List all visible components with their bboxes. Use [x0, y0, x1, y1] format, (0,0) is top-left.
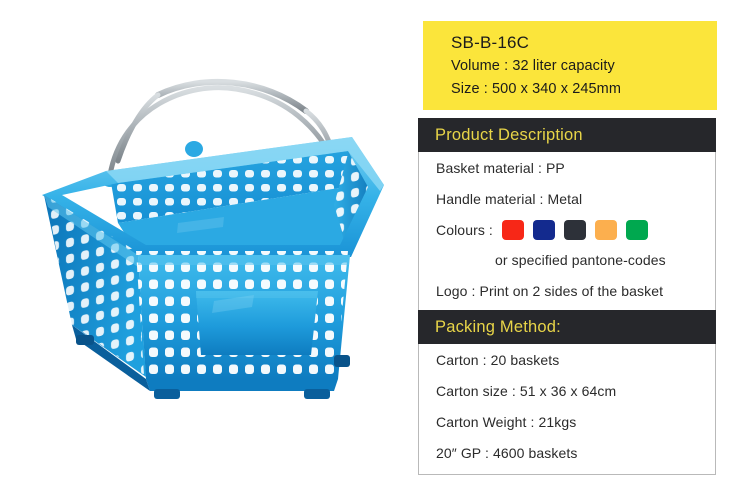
colour-swatch-navy	[533, 220, 555, 240]
packing-rows: Carton : 20 baskets Carton size : 51 x 3…	[419, 344, 715, 468]
product-description-rows: Basket material : PP Handle material : M…	[419, 152, 715, 306]
row-basket-material: Basket material : PP	[436, 152, 715, 183]
model-header-box: SB-B-16C Volume : 32 liter capacity Size…	[423, 21, 717, 110]
row-pantone-note: or specified pantone-codes	[436, 245, 715, 275]
spec-table-panel: Product Description Basket material : PP…	[418, 118, 716, 475]
row-carton-size: Carton size : 51 x 36 x 64cm	[436, 375, 715, 406]
colour-swatch-orange	[595, 220, 617, 240]
row-logo: Logo : Print on 2 sides of the basket	[436, 275, 715, 306]
colour-swatch-group	[502, 220, 648, 240]
row-carton-weight: Carton Weight : 21kgs	[436, 406, 715, 437]
size-line: Size : 500 x 340 x 245mm	[451, 78, 717, 101]
row-carton-quantity: Carton : 20 baskets	[436, 344, 715, 375]
row-colours: Colours :	[436, 214, 715, 245]
colour-swatch-charcoal	[564, 220, 586, 240]
row-container-capacity: 20″ GP : 4600 baskets	[436, 437, 715, 468]
model-number: SB-B-16C	[451, 30, 717, 55]
shopping-basket-image	[18, 55, 398, 445]
volume-line: Volume : 32 liter capacity	[451, 55, 717, 78]
packing-section: Packing Method: Carton : 20 baskets Cart…	[419, 310, 715, 468]
product-image-pane	[0, 0, 412, 498]
section-header-packing-method: Packing Method:	[418, 310, 716, 344]
product-spec-sheet: SB-B-16C Volume : 32 liter capacity Size…	[0, 0, 730, 498]
colour-swatch-green	[626, 220, 648, 240]
colours-label: Colours :	[436, 222, 493, 238]
section-header-product-description: Product Description	[418, 118, 716, 152]
specification-pane: SB-B-16C Volume : 32 liter capacity Size…	[418, 0, 718, 498]
section-title-text: Packing Method:	[435, 318, 561, 337]
section-title-text: Product Description	[435, 126, 583, 145]
row-handle-material: Handle material : Metal	[436, 183, 715, 214]
colour-swatch-red	[502, 220, 524, 240]
